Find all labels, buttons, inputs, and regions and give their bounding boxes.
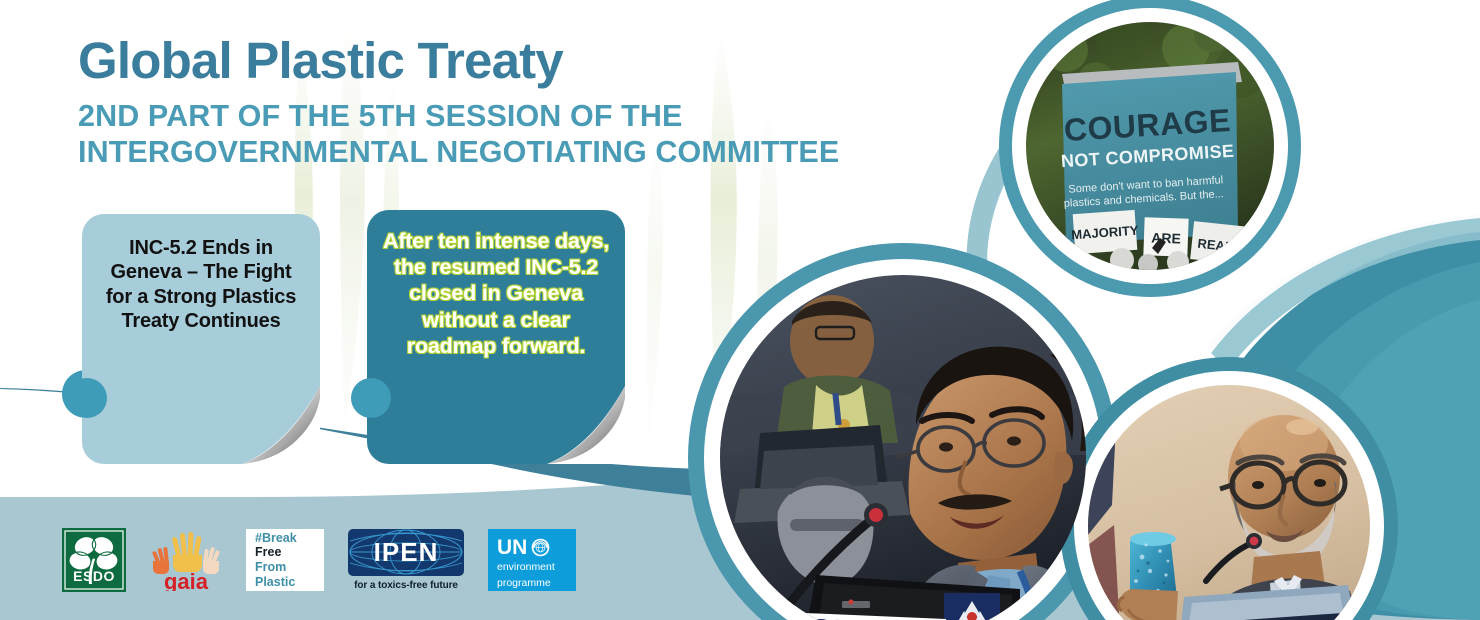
courage-banner-photo[interactable]: COURAGE NOT COMPROMISE Some don't want t… [1026,22,1274,270]
gaia-hands-icon: gaia [150,529,222,591]
card-two-text: After ten intense days, the resumed INC-… [367,210,625,359]
un-subtext-line-1: environment [497,561,569,574]
headline-card-summary[interactable]: After ten intense days, the resumed INC-… [367,210,625,464]
break-free-from-plastic-logo[interactable]: #Break Free From Plastic [246,529,324,591]
bfp-line-2: Free [255,545,324,560]
bfp-line-4: Plastic [255,575,324,590]
svg-text:ESDO: ESDO [73,568,115,584]
esdo-logo[interactable]: ESDO [62,528,126,592]
card-one-accent-dot [67,378,107,418]
page-subtitle: 2ND PART OF THE 5TH SESSION OF THE INTER… [78,99,1038,171]
svg-text:gaia: gaia [164,569,209,591]
card-two-accent-dot [351,378,391,418]
un-wordmark: UN [497,537,527,558]
chair-photo-art: INC CHAIR [1088,385,1370,620]
gaia-logo[interactable]: gaia [150,529,222,591]
laptop-sticker: Safe & Circular Plastics DO NOT [944,593,1000,620]
ipen-tagline: for a toxics-free future [348,580,464,591]
esdo-clover-icon: ESDO [62,528,126,592]
page-subtitle-line-2: INTERGOVERNMENTAL NEGOTIATING COMMITTEE [78,135,1038,171]
card-one-text: INC-5.2 Ends in Geneva – The Fight for a… [82,214,320,334]
ipen-wordmark: IPEN [374,537,439,568]
ipen-logo[interactable]: IPEN for a toxics-free future [348,529,464,591]
un-emblem-icon [531,538,550,557]
bfp-line-1: #Break [255,531,324,546]
delegate-photo-art: Safe & Circular Plastics DO NOT BANGLADE… [720,275,1086,620]
banner-root: Global Plastic Treaty 2ND PART OF THE 5T… [0,0,1480,620]
courage-photo-art: COURAGE NOT COMPROMISE Some don't want t… [1026,22,1274,270]
un-environment-programme-logo[interactable]: UN environment programme [488,529,576,591]
un-subtext-line-2: programme [497,577,569,590]
partner-logo-strip: ESDO [62,528,576,592]
inc-chair-photo[interactable]: INC CHAIR [1088,385,1370,620]
headline-block: Global Plastic Treaty 2ND PART OF THE 5T… [78,34,1038,171]
page-subtitle-line-1: 2ND PART OF THE 5TH SESSION OF THE [78,99,1038,135]
bfp-line-3: From [255,560,324,575]
bangladesh-delegate-photo[interactable]: Safe & Circular Plastics DO NOT BANGLADE… [720,275,1086,620]
page-title: Global Plastic Treaty [78,34,1038,87]
headline-card-inc52-ends[interactable]: INC-5.2 Ends in Geneva – The Fight for a… [82,214,320,464]
